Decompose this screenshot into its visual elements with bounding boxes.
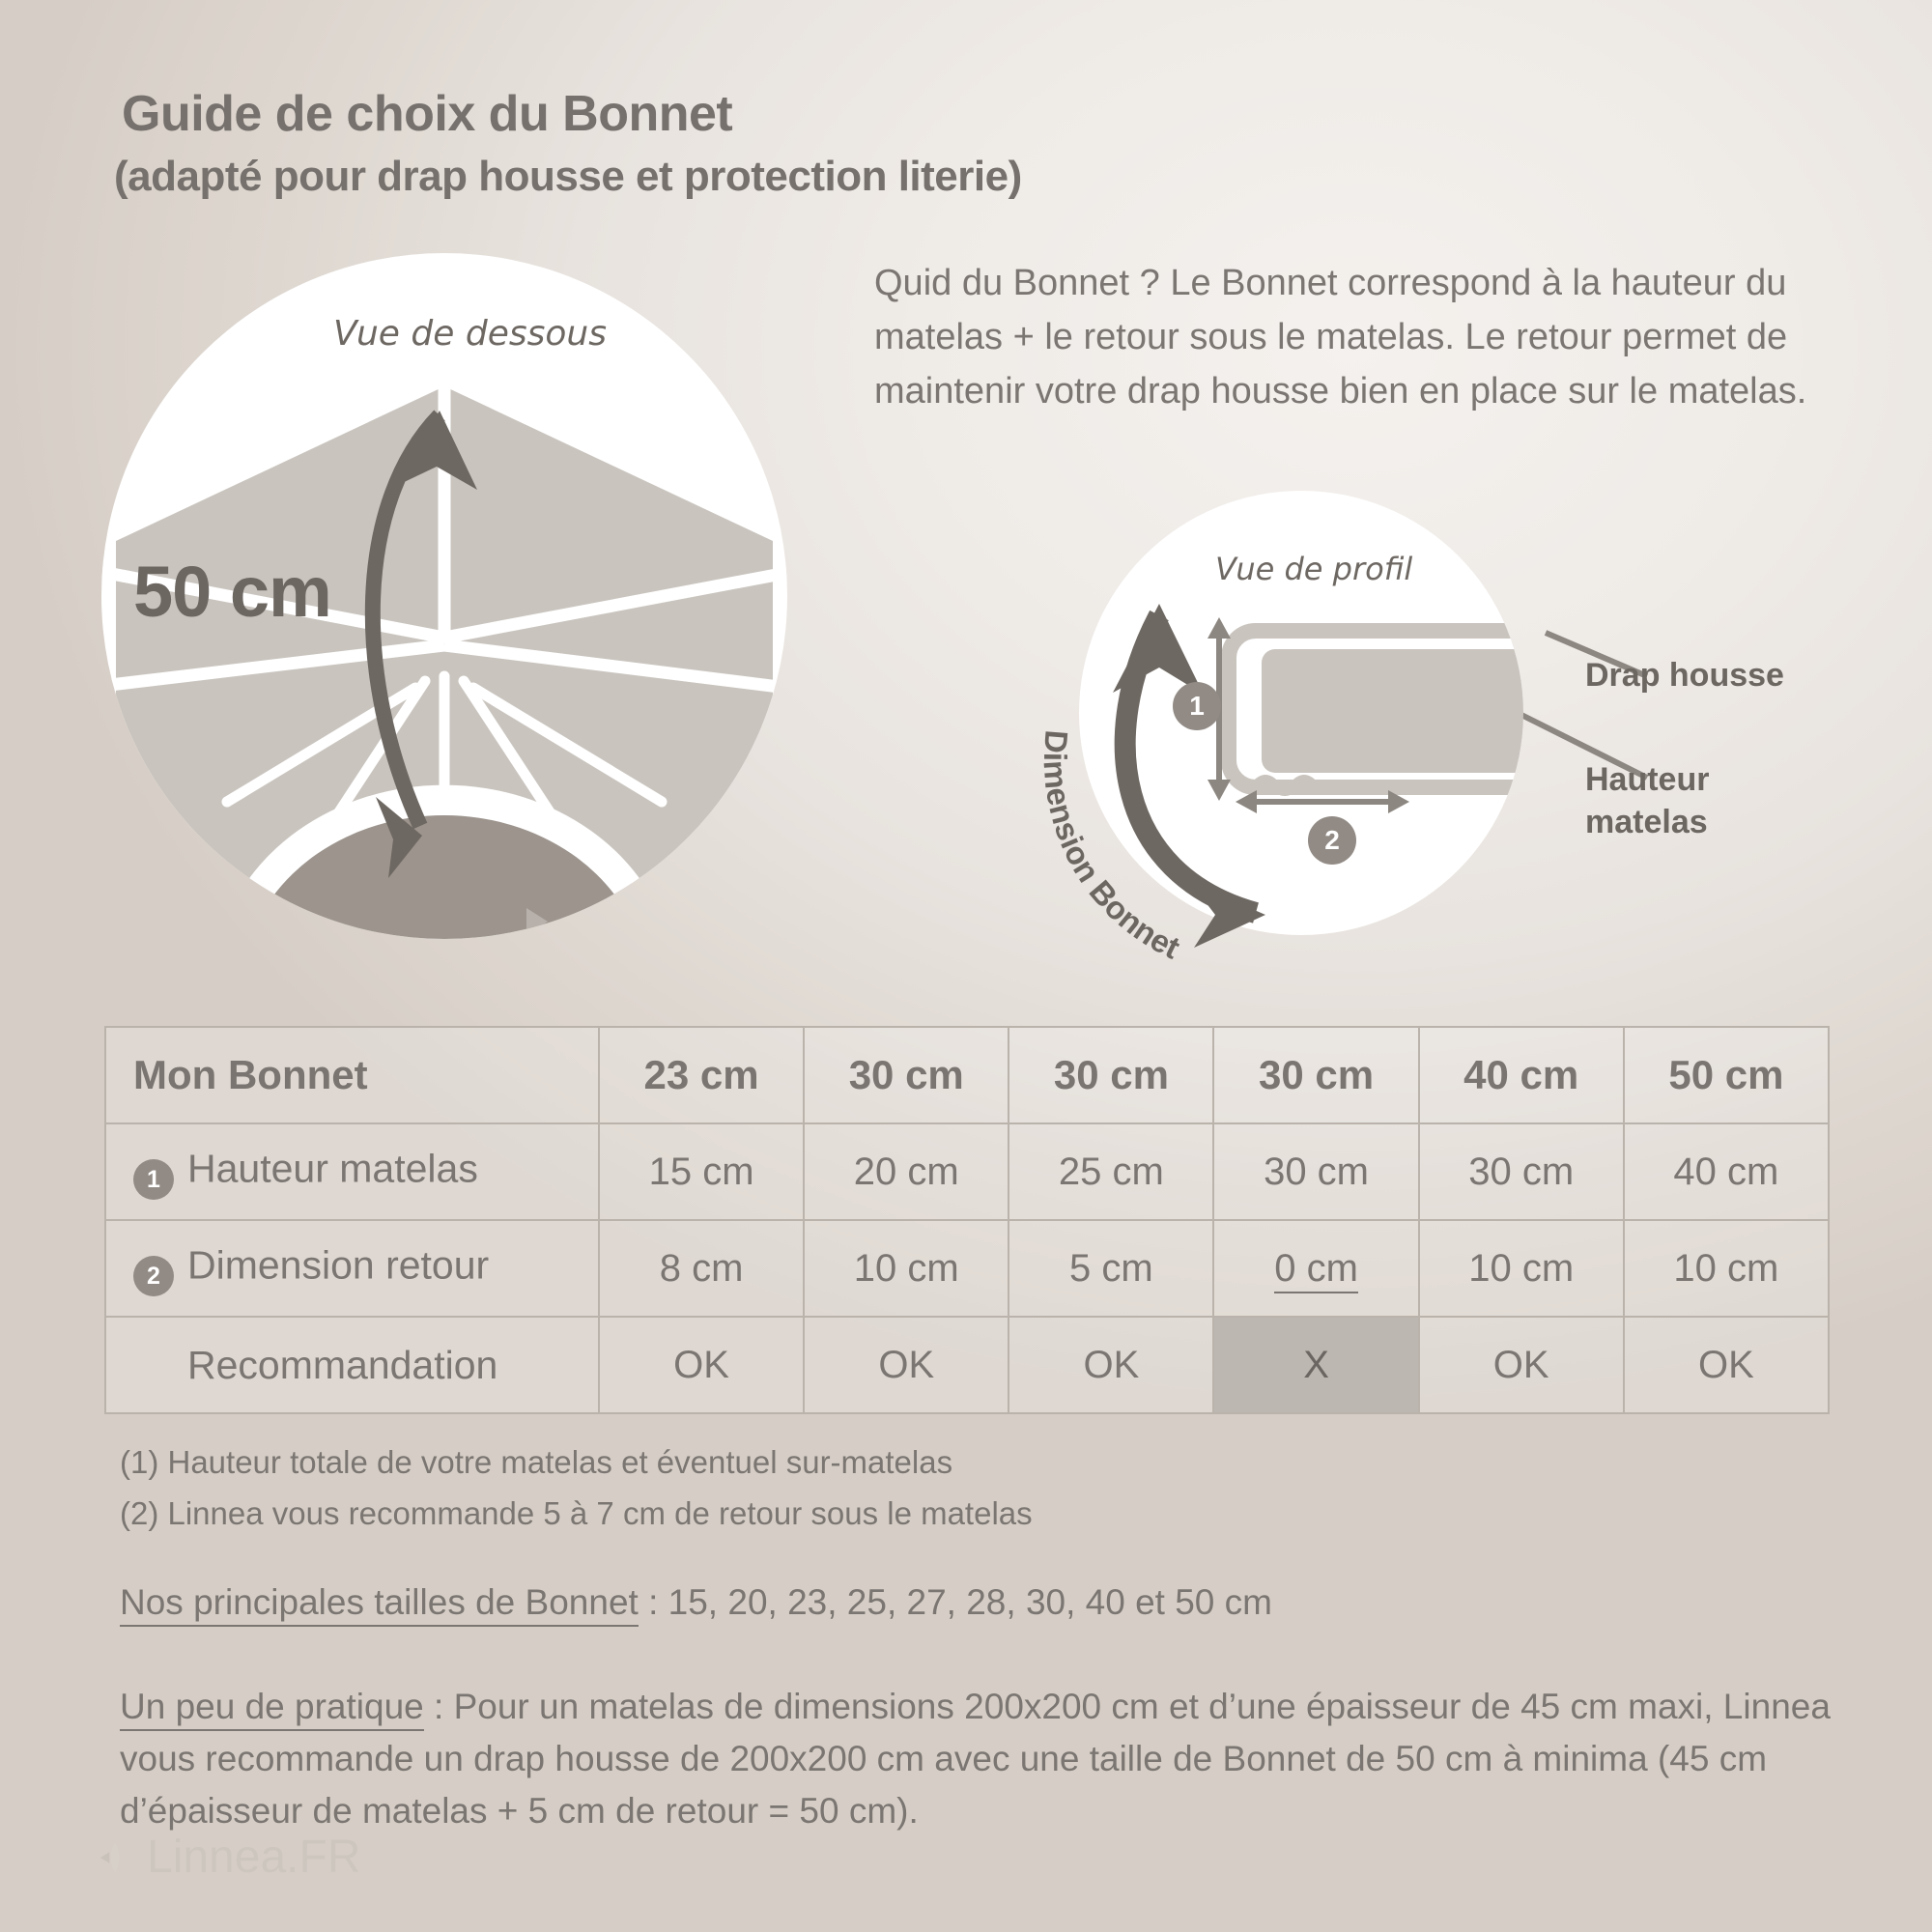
logo-text: Linnea.FR: [147, 1831, 360, 1884]
table-row-dimension-retour: 2Dimension retour 8 cm 10 cm 5 cm 0 cm 1…: [105, 1220, 1829, 1317]
profile-view-label: Vue de profil: [1215, 551, 1412, 587]
cell-retour-2: 5 cm: [1009, 1220, 1213, 1317]
cell-reco-0: OK: [599, 1317, 804, 1413]
callout-hauteur-matelas: Hauteur matelas: [1585, 758, 1709, 843]
cell-retour-5: 10 cm: [1624, 1220, 1829, 1317]
table-row-hauteur-matelas: 1Hauteur matelas 15 cm 20 cm 25 cm 30 cm…: [105, 1123, 1829, 1220]
cell-hauteur-1: 20 cm: [804, 1123, 1009, 1220]
bonnet-table: Mon Bonnet 23 cm 30 cm 30 cm 30 cm 40 cm…: [104, 1026, 1830, 1414]
diagram-badge-2: 2: [1308, 816, 1356, 865]
page-title: Guide de choix du Bonnet: [122, 85, 732, 143]
cell-retour-0: 8 cm: [599, 1220, 804, 1317]
table-row-label-hauteur: 1Hauteur matelas: [105, 1123, 599, 1220]
table-row-label-retour: 2Dimension retour: [105, 1220, 599, 1317]
sizes-line-label: Nos principales tailles de Bonnet: [120, 1582, 639, 1627]
callout-hauteur-line2: matelas: [1585, 801, 1709, 843]
page-subtitle: (adapté pour drap housse et protection l…: [114, 153, 1022, 201]
cell-reco-1: OK: [804, 1317, 1009, 1413]
cell-hauteur-5: 40 cm: [1624, 1123, 1829, 1220]
table-header-row: Mon Bonnet 23 cm 30 cm 30 cm 30 cm 40 cm…: [105, 1027, 1829, 1123]
practical-label: Un peu de pratique: [120, 1687, 424, 1731]
linnea-logo: Linnea.FR: [97, 1831, 360, 1884]
cell-hauteur-0: 15 cm: [599, 1123, 804, 1220]
cell-reco-5: OK: [1624, 1317, 1829, 1413]
row-badge-2: 2: [133, 1256, 174, 1296]
table-header-col-3: 30 cm: [1213, 1027, 1418, 1123]
table-row-label-reco: Recommandation: [105, 1317, 599, 1413]
table-header-col-1: 30 cm: [804, 1027, 1009, 1123]
cell-hauteur-2: 25 cm: [1009, 1123, 1213, 1220]
bonnet-measure-label: 50 cm: [133, 551, 331, 633]
table-header-col-0: 23 cm: [599, 1027, 804, 1123]
sizes-line: Nos principales tailles de Bonnet : 15, …: [120, 1582, 1272, 1623]
callout-drap-housse: Drap housse: [1585, 654, 1784, 696]
cell-hauteur-3: 30 cm: [1213, 1123, 1418, 1220]
table-header-label: Mon Bonnet: [105, 1027, 599, 1123]
cell-reco-3: X: [1213, 1317, 1418, 1413]
table-row-recommandation: Recommandation OK OK OK X OK OK: [105, 1317, 1829, 1413]
bottom-view-label: Vue de dessous: [333, 314, 607, 354]
row-badge-1: 1: [133, 1159, 174, 1200]
linnea-leaf-icon: [97, 1839, 133, 1876]
cell-retour-1: 10 cm: [804, 1220, 1009, 1317]
row-label-text-hauteur: Hauteur matelas: [187, 1146, 478, 1190]
footnote-2: (2) Linnea vous recommande 5 à 7 cm de r…: [120, 1495, 1033, 1532]
practical-paragraph: Un peu de pratique : Pour un matelas de …: [120, 1681, 1878, 1837]
cell-retour-4: 10 cm: [1419, 1220, 1624, 1317]
cell-reco-4: OK: [1419, 1317, 1624, 1413]
diagram-badge-1: 1: [1173, 682, 1221, 730]
footnote-1: (1) Hauteur totale de votre matelas et é…: [120, 1444, 952, 1481]
infographic-page: Guide de choix du Bonnet (adapté pour dr…: [0, 0, 1932, 1932]
intro-paragraph: Quid du Bonnet ? Le Bonnet correspond à …: [874, 256, 1860, 418]
cell-reco-2: OK: [1009, 1317, 1213, 1413]
table-header-col-5: 50 cm: [1624, 1027, 1829, 1123]
callout-hauteur-line1: Hauteur: [1585, 758, 1709, 801]
cell-retour-3-value: 0 cm: [1274, 1247, 1358, 1293]
row-label-text-retour: Dimension retour: [187, 1242, 489, 1287]
table-header-col-2: 30 cm: [1009, 1027, 1213, 1123]
cell-retour-3: 0 cm: [1213, 1220, 1418, 1317]
sizes-line-values: : 15, 20, 23, 25, 27, 28, 30, 40 et 50 c…: [639, 1582, 1272, 1622]
table-header-col-4: 40 cm: [1419, 1027, 1624, 1123]
cell-hauteur-4: 30 cm: [1419, 1123, 1624, 1220]
